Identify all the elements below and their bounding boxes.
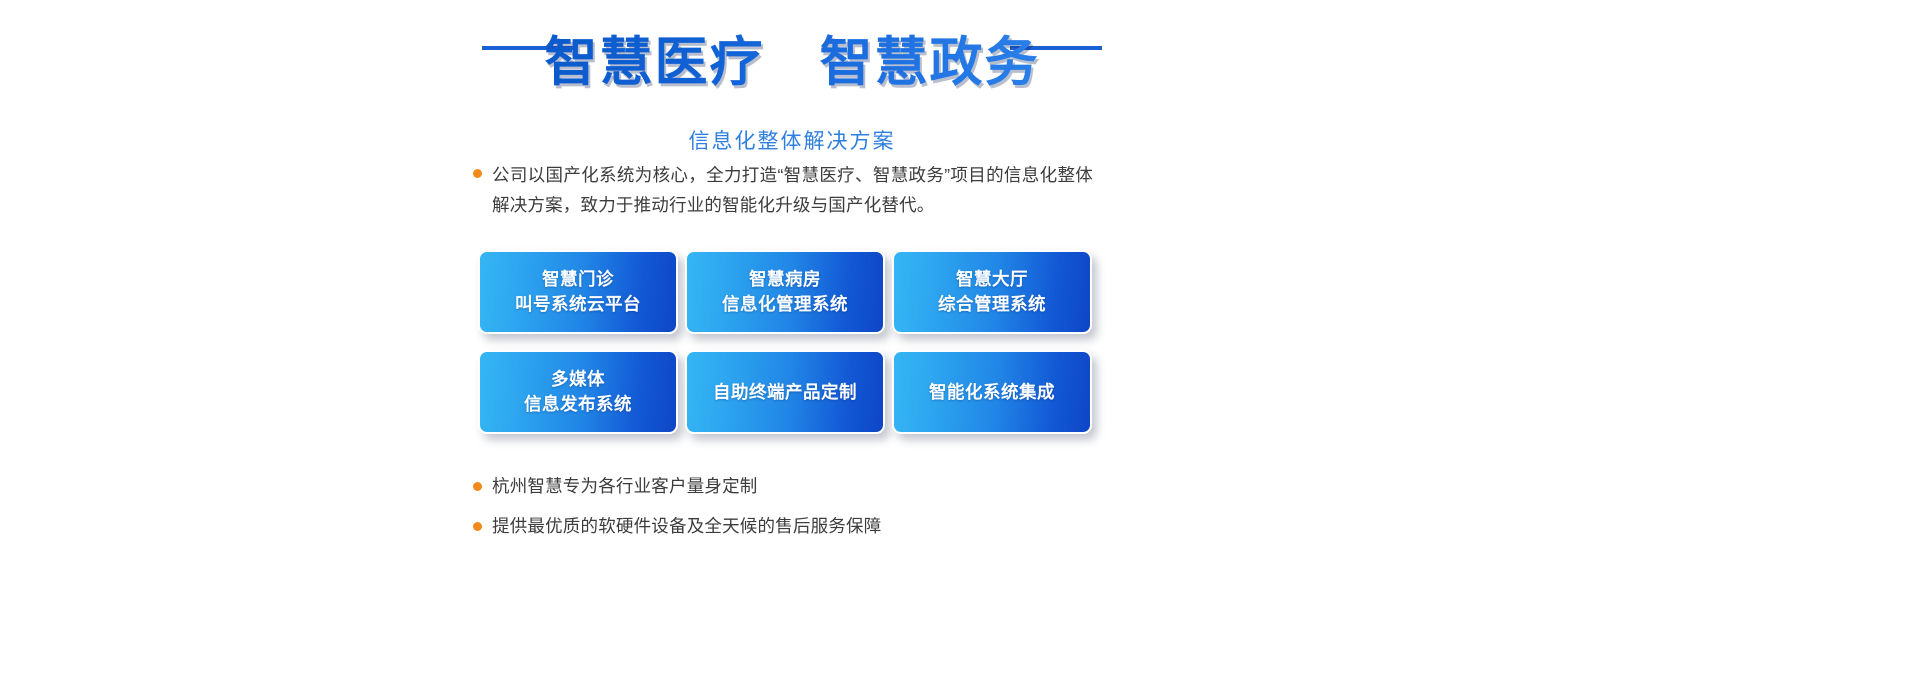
- card-smart-hall[interactable]: 智慧大厅综合管理系统: [892, 250, 1092, 334]
- card-smart-clinic[interactable]: 智慧门诊叫号系统云平台: [478, 250, 678, 334]
- orange-dot-icon: [473, 169, 482, 178]
- title-block: 智慧医疗 智慧政务 信息化整体解决方案: [478, 26, 1106, 136]
- card-label: 多媒体信息发布系统: [524, 367, 632, 417]
- list-item: 杭州智慧专为各行业客户量身定制: [473, 473, 1093, 499]
- list-item: 提供最优质的软硬件设备及全天候的售后服务保障: [473, 513, 1093, 539]
- orange-dot-icon: [473, 482, 482, 491]
- card-label: 智慧门诊叫号系统云平台: [515, 267, 641, 317]
- card-label: 智慧大厅综合管理系统: [938, 267, 1046, 317]
- bullet-text: 提供最优质的软硬件设备及全天候的售后服务保障: [492, 513, 881, 539]
- card-intelligent-integration[interactable]: 智能化系统集成: [892, 350, 1092, 434]
- card-multimedia[interactable]: 多媒体信息发布系统: [478, 350, 678, 434]
- feature-bullet-list: 杭州智慧专为各行业客户量身定制 提供最优质的软硬件设备及全天候的售后服务保障: [473, 473, 1093, 553]
- slide-root: 智慧医疗 智慧政务 信息化整体解决方案 公司以国产化系统为核心，全力打造“智慧医…: [0, 0, 1920, 680]
- intro-text: 公司以国产化系统为核心，全力打造“智慧医疗、智慧政务”项目的信息化整体解决方案，…: [492, 160, 1093, 220]
- card-label: 自助终端产品定制: [713, 380, 857, 405]
- solution-card-grid: 智慧门诊叫号系统云平台 智慧病房信息化管理系统 智慧大厅综合管理系统 多媒体信息…: [478, 250, 1092, 434]
- intro-paragraph: 公司以国产化系统为核心，全力打造“智慧医疗、智慧政务”项目的信息化整体解决方案，…: [473, 160, 1093, 220]
- page-title: 智慧医疗 智慧政务: [478, 26, 1106, 100]
- card-label: 智能化系统集成: [929, 380, 1055, 405]
- page-subtitle: 信息化整体解决方案: [478, 128, 1106, 156]
- card-smart-ward[interactable]: 智慧病房信息化管理系统: [685, 250, 885, 334]
- content-column: 智慧医疗 智慧政务 信息化整体解决方案 公司以国产化系统为核心，全力打造“智慧医…: [0, 0, 1920, 680]
- orange-dot-icon: [473, 522, 482, 531]
- card-label: 智慧病房信息化管理系统: [722, 267, 848, 317]
- bullet-text: 杭州智慧专为各行业客户量身定制: [492, 473, 758, 499]
- card-self-service-terminal[interactable]: 自助终端产品定制: [685, 350, 885, 434]
